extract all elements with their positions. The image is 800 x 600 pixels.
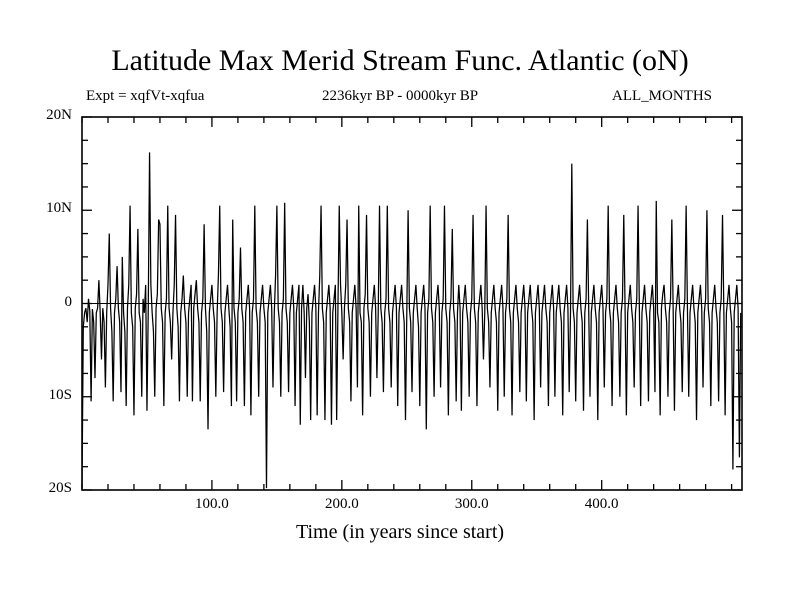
x-tick-200.0: 200.0 xyxy=(302,496,382,513)
y-tick-20N: 20N xyxy=(12,107,72,124)
y-tick-20S: 20S xyxy=(12,480,72,497)
y-tick-10S: 10S xyxy=(12,387,72,404)
x-tick-400.0: 400.0 xyxy=(562,496,642,513)
plot-area xyxy=(0,0,800,600)
x-tick-100.0: 100.0 xyxy=(172,496,252,513)
x-tick-300.0: 300.0 xyxy=(432,496,512,513)
y-tick-10N: 10N xyxy=(12,200,72,217)
chart-figure: Latitude Max Merid Stream Func. Atlantic… xyxy=(0,0,800,600)
x-axis-title: Time (in years since start) xyxy=(0,521,800,544)
y-tick-0: 0 xyxy=(12,294,72,311)
